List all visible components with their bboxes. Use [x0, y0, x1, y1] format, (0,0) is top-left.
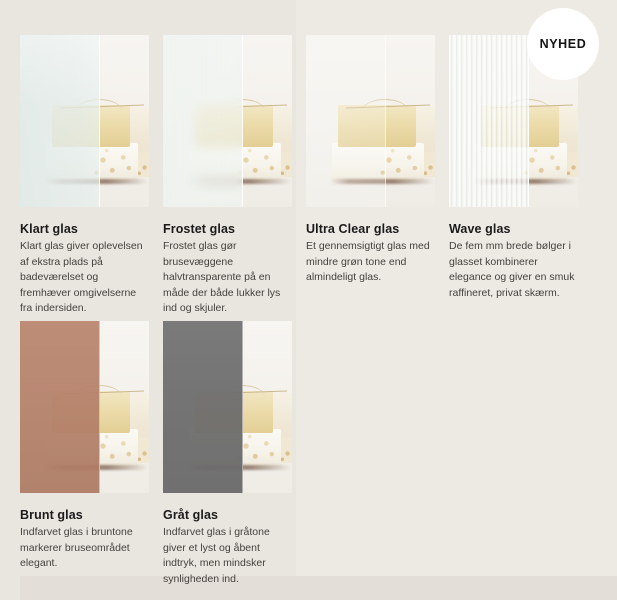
product-description: Frostet glas gør brusevæggene halvtransp…	[163, 239, 289, 317]
product-card-klart-glas[interactable]: Klart glas Klart glas giver oplevelsen a…	[20, 35, 149, 317]
product-description: Indfarvet glas i gråtone giver et lyst o…	[163, 525, 289, 587]
glass-panel-brunt	[20, 321, 100, 493]
nyhed-badge: NYHED	[527, 8, 599, 80]
product-description: Et gennemsigtigt glas med mindre grøn to…	[306, 239, 432, 286]
product-description: Klart glas giver oplevelsen af ekstra pl…	[20, 239, 146, 317]
product-image-graat-glas	[163, 321, 292, 493]
product-card-frostet-glas[interactable]: Frostet glas Frostet glas gør brusevægge…	[163, 35, 292, 317]
glass-panel-ultra-clear	[306, 35, 386, 207]
glass-panel-frostet	[163, 35, 243, 207]
product-title: Brunt glas	[20, 508, 149, 522]
glass-panel-wave	[449, 35, 529, 207]
glass-panel-graat	[163, 321, 243, 493]
glass-panel-klart	[20, 35, 100, 207]
product-description: Indfarvet glas i bruntone markerer bruse…	[20, 525, 146, 572]
product-image-brunt-glas	[20, 321, 149, 493]
product-description: De fem mm brede bølger i glasset kombine…	[449, 239, 575, 301]
product-grid: Klart glas Klart glas giver oplevelsen a…	[0, 0, 617, 600]
product-image-frostet-glas	[163, 35, 292, 207]
product-image-ultra-clear-glas	[306, 35, 435, 207]
product-card-graat-glas[interactable]: Gråt glas Indfarvet glas i gråtone giver…	[163, 321, 292, 587]
product-title: Wave glas	[449, 222, 578, 236]
product-title: Klart glas	[20, 222, 149, 236]
product-card-ultra-clear-glas[interactable]: Ultra Clear glas Et gennemsigtigt glas m…	[306, 35, 435, 286]
product-card-brunt-glas[interactable]: Brunt glas Indfarvet glas i bruntone mar…	[20, 321, 149, 572]
product-title: Ultra Clear glas	[306, 222, 435, 236]
product-image-klart-glas	[20, 35, 149, 207]
product-title: Gråt glas	[163, 508, 292, 522]
product-title: Frostet glas	[163, 222, 292, 236]
